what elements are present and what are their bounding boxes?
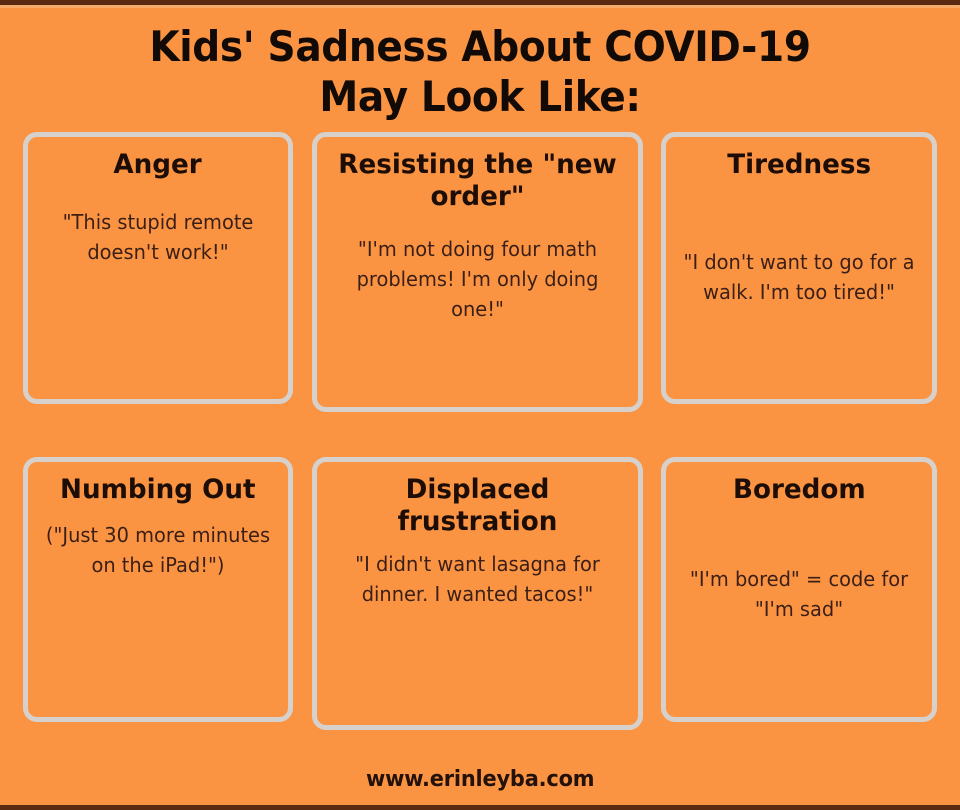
card-quote: "This stupid remote doesn't work!"	[42, 207, 275, 267]
card-heading: Anger	[114, 149, 202, 181]
card-resisting-the-new-order: Resisting the "new order" "I'm not doing…	[312, 132, 643, 412]
card-displaced-frustration: Displaced frustration "I didn't want las…	[312, 457, 643, 730]
page-title-line-1: Kids' Sadness About COVID-19	[71, 22, 889, 72]
card-heading: Tiredness	[727, 149, 871, 181]
page-title-line-2: May Look Like:	[71, 72, 889, 122]
card-quote: "I'm bored" = code for "I'm sad"	[680, 564, 919, 624]
website-url: www.erinleyba.com	[366, 767, 594, 792]
card-heading: Numbing Out	[60, 474, 256, 506]
card-boredom: Boredom "I'm bored" = code for "I'm sad"	[661, 457, 937, 722]
card-quote: "I don't want to go for a walk. I'm too …	[680, 247, 919, 307]
card-quote: ("Just 30 more minutes on the iPad!")	[42, 520, 275, 580]
card-heading: Displaced frustration	[331, 474, 623, 537]
footer: www.erinleyba.com	[0, 753, 960, 810]
card-quote: "I didn't want lasagna for dinner. I wan…	[331, 549, 623, 609]
card-anger: Anger "This stupid remote doesn't work!"	[23, 132, 293, 404]
page-title: Kids' Sadness About COVID-19 May Look Li…	[0, 0, 960, 121]
card-numbing-out: Numbing Out ("Just 30 more minutes on th…	[23, 457, 293, 722]
card-heading: Boredom	[733, 474, 866, 506]
card-heading: Resisting the "new order"	[331, 149, 623, 212]
cards-grid: Anger "This stupid remote doesn't work!"…	[0, 132, 960, 753]
card-tiredness: Tiredness "I don't want to go for a walk…	[661, 132, 937, 404]
bottom-edge-band	[0, 805, 960, 810]
card-quote: "I'm not doing four math problems! I'm o…	[331, 234, 623, 324]
infographic-poster: Kids' Sadness About COVID-19 May Look Li…	[0, 0, 960, 810]
top-edge-band	[0, 0, 960, 5]
